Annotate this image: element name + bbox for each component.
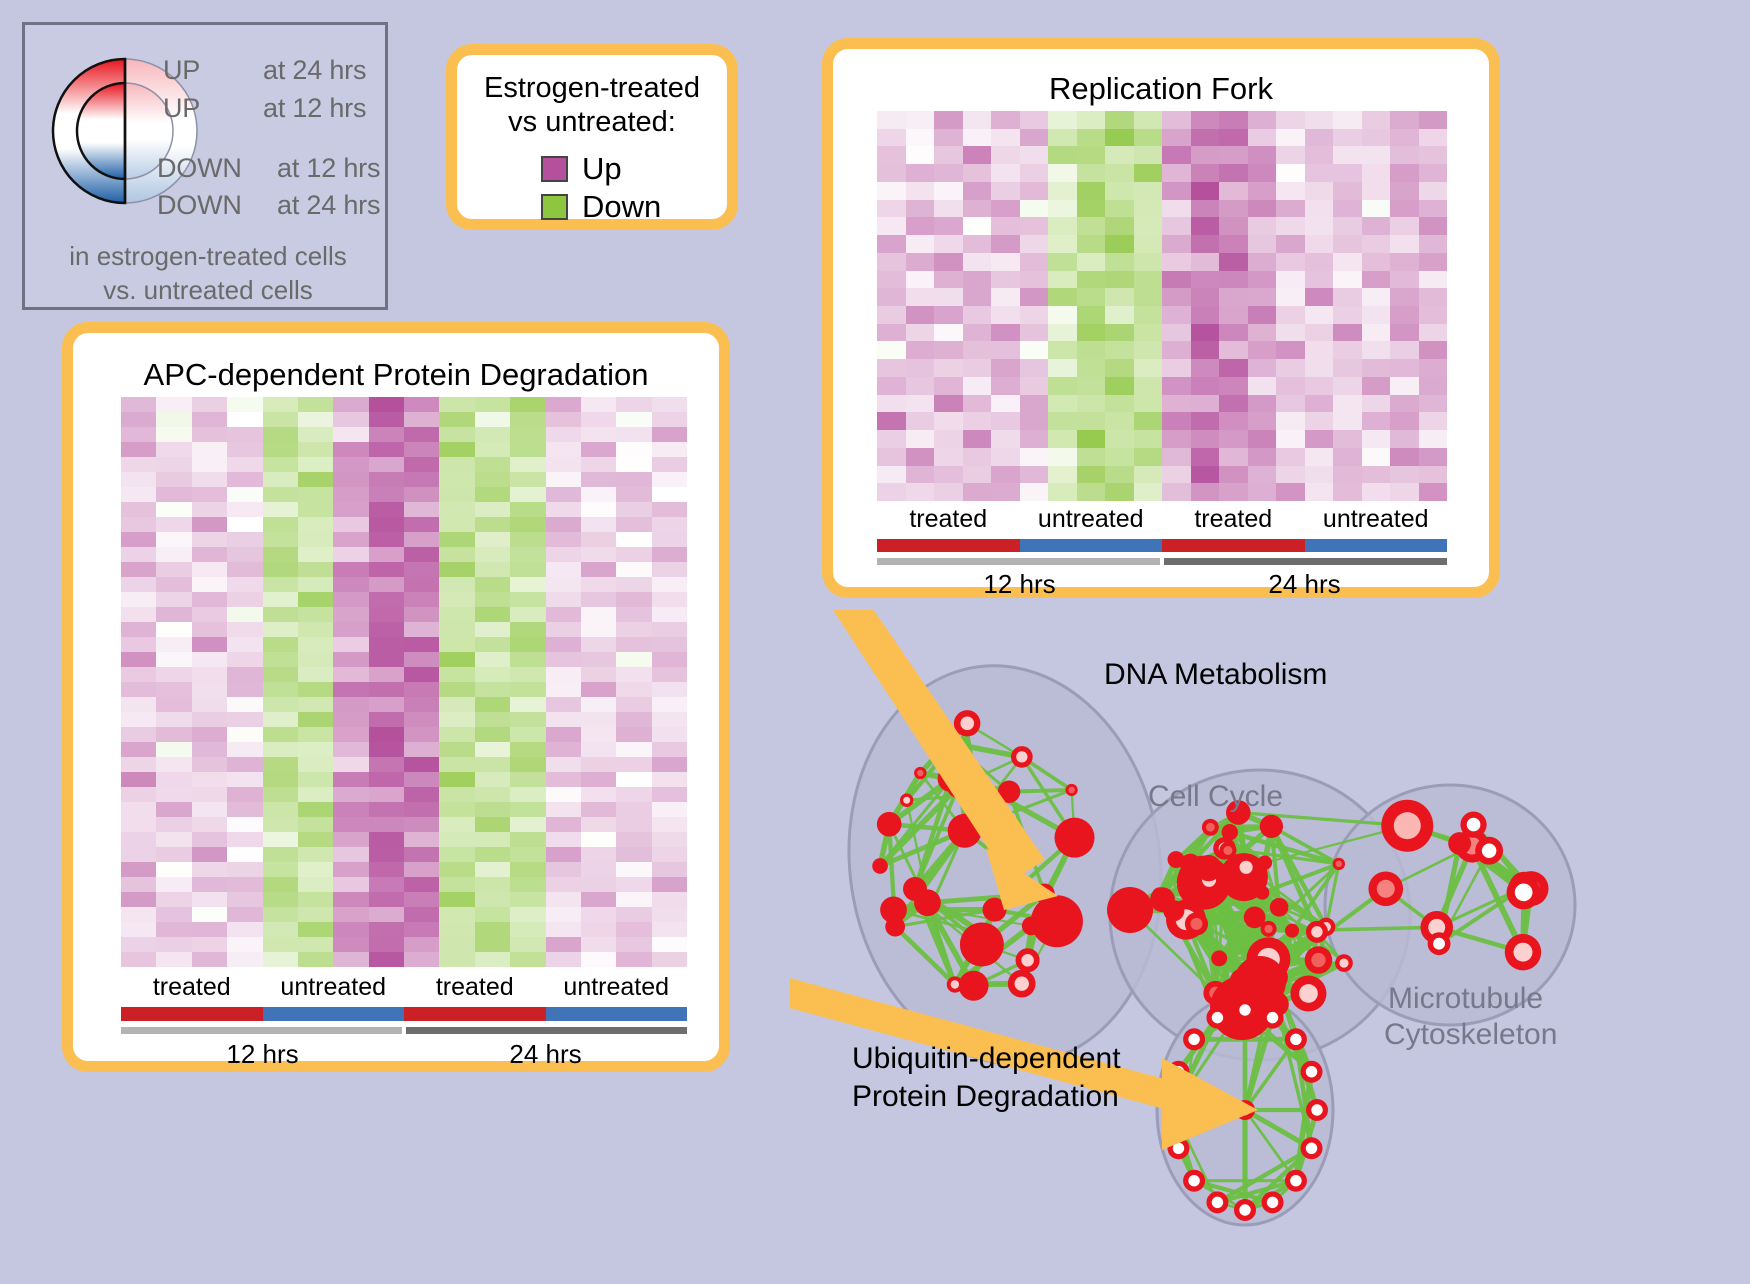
heatmap-cell [1390, 448, 1419, 466]
heatmap-cell [510, 412, 545, 427]
heatmap-cell [1105, 483, 1134, 501]
heatmap-cell [263, 457, 298, 472]
heatmap-cell [298, 397, 333, 412]
heatmap-cell [1248, 235, 1277, 253]
heatmap-cell [1419, 111, 1448, 129]
heatmap-cell [263, 607, 298, 622]
heatmap-cell [1248, 271, 1277, 289]
heatmap-cell [1077, 466, 1106, 484]
heatmap-cell [1077, 217, 1106, 235]
heatmap-cell [1419, 164, 1448, 182]
network-node-inner [1290, 1175, 1301, 1186]
heatmap-cell [227, 757, 262, 772]
heatmap-cell [581, 637, 616, 652]
heatmap-cell [616, 547, 651, 562]
heatmap-cell [156, 532, 191, 547]
heatmap-cell [1419, 412, 1448, 430]
network-node-inner [1311, 1104, 1322, 1115]
heatmap-cell [121, 487, 156, 502]
heatmap-cell [877, 146, 906, 164]
heatmap-cell [439, 637, 474, 652]
heatmap-cell [1162, 182, 1191, 200]
heatmap-cell [1191, 430, 1220, 448]
heatmap-cell [192, 397, 227, 412]
heatmap-cell [1048, 430, 1077, 448]
heatmap-cell [298, 427, 333, 442]
heatmap-cell [963, 182, 992, 200]
heatmap-cell [963, 466, 992, 484]
heatmap-cell [1362, 288, 1391, 306]
heatmap-cell [298, 937, 333, 952]
heatmap-cell [546, 562, 581, 577]
heatmap-cell [121, 922, 156, 937]
heatmap-cell [227, 682, 262, 697]
heatmap-cell [121, 502, 156, 517]
heatmap-cell [616, 397, 651, 412]
heatmap-cell [581, 622, 616, 637]
condition-label: treated [1162, 505, 1305, 537]
heatmap-cell [227, 622, 262, 637]
heatmap-cell [991, 448, 1020, 466]
heatmap-cell [369, 562, 404, 577]
heatmap-cell [1248, 111, 1277, 129]
network-node-inner [1226, 828, 1235, 837]
heatmap-cell [404, 397, 439, 412]
heatmap-cell [439, 697, 474, 712]
heatmap-cell [1419, 430, 1448, 448]
network-node-inner [903, 797, 910, 804]
heatmap-cell [1305, 395, 1334, 413]
heatmap-cell [404, 622, 439, 637]
heatmap-cell [616, 592, 651, 607]
heatmap-cell [439, 487, 474, 502]
heatmap-cell [1077, 430, 1106, 448]
heatmap-cell [1020, 200, 1049, 218]
heatmap-cell [510, 517, 545, 532]
heatmap-cell [1219, 324, 1248, 342]
heatmap-cell [333, 892, 368, 907]
heatmap-cell [1362, 466, 1391, 484]
cluster-label-ubiquitin-2: Protein Degradation [852, 1080, 1119, 1114]
heatmap-cell [121, 787, 156, 802]
heatmap-cell [1077, 235, 1106, 253]
heatmap-cell [1333, 430, 1362, 448]
heatmap-cell [369, 862, 404, 877]
heatmap-cell [1362, 430, 1391, 448]
heatmap-cell [1419, 359, 1448, 377]
heatmap-cell [475, 592, 510, 607]
heatmap-cell [439, 772, 474, 787]
heatmap-cell [616, 922, 651, 937]
timepoint-segment [406, 1027, 687, 1034]
heatmap-cell [1191, 466, 1220, 484]
heatmap-cell [439, 472, 474, 487]
heatmap-cell [877, 182, 906, 200]
heatmap-cell [192, 427, 227, 442]
heatmap-cell [1248, 359, 1277, 377]
heatmap-cell [1362, 341, 1391, 359]
heatmap-cell [439, 937, 474, 952]
key-legend-title: Estrogen-treated vs untreated: [457, 71, 727, 139]
heatmap-cell [404, 802, 439, 817]
heatmap-cell [1390, 235, 1419, 253]
heatmap-cell [439, 592, 474, 607]
heatmap-cell [1134, 483, 1163, 501]
heatmap-cell [1333, 200, 1362, 218]
network-node-inner [1261, 859, 1269, 867]
heatmap-cell [1333, 182, 1362, 200]
key-legend-item-up: Up [541, 151, 622, 187]
heatmap-cell [1333, 253, 1362, 271]
heatmap-cell [369, 802, 404, 817]
heatmap-cell [1390, 200, 1419, 218]
heatmap-cell [616, 637, 651, 652]
heatmap-cell [1162, 129, 1191, 147]
heatmap-cell [1048, 217, 1077, 235]
heatmap-cell [1276, 164, 1305, 182]
network-node-inner [890, 922, 900, 932]
heatmap-cell [1134, 430, 1163, 448]
heatmap-cell [156, 937, 191, 952]
heatmap-cell [934, 217, 963, 235]
heatmap-cell [1333, 129, 1362, 147]
heatmap-apc [121, 397, 687, 967]
heatmap-cell [906, 129, 935, 147]
heatmap-cell [877, 235, 906, 253]
network-node-inner [1482, 843, 1496, 857]
heatmap-cell [1191, 129, 1220, 147]
condition-segment [546, 1007, 688, 1021]
heatmap-cell [581, 547, 616, 562]
network-node-inner [1336, 861, 1342, 867]
heatmap-cell [369, 637, 404, 652]
heatmap-cell [934, 271, 963, 289]
heatmap-cell [156, 652, 191, 667]
heatmap-cell [546, 742, 581, 757]
heatmap-cell [475, 727, 510, 742]
cluster-label-ubiquitin-1: Ubiquitin-dependent [852, 1042, 1121, 1076]
heatmap-cell [475, 952, 510, 967]
condition-label: treated [121, 973, 263, 1005]
heatmap-cell [1305, 448, 1334, 466]
heatmap-cell [546, 667, 581, 682]
heatmap-cell [121, 862, 156, 877]
heatmap-cell [963, 217, 992, 235]
heatmap-cell [1219, 182, 1248, 200]
heatmap-cell [1419, 271, 1448, 289]
heatmap-cell [475, 697, 510, 712]
heatmap-cell [1390, 466, 1419, 484]
heatmap-cell [227, 802, 262, 817]
cluster-label-microtubule-1: Microtubule [1388, 982, 1543, 1016]
heatmap-cell [510, 532, 545, 547]
heatmap-cell [510, 397, 545, 412]
heatmap-cell [333, 817, 368, 832]
heatmap-cell [227, 667, 262, 682]
heatmap-cell [298, 577, 333, 592]
heatmap-cell [333, 547, 368, 562]
heatmap-cell [475, 892, 510, 907]
condition-color-bar-replication-fork [877, 539, 1447, 552]
heatmap-cell [369, 952, 404, 967]
heatmap-cell [121, 892, 156, 907]
heatmap-cell [263, 847, 298, 862]
heatmap-cell [121, 517, 156, 532]
heatmap-cell [934, 412, 963, 430]
heatmap-cell [475, 742, 510, 757]
heatmap-cell [1105, 129, 1134, 147]
heatmap-cell [510, 682, 545, 697]
heatmap-cell [991, 129, 1020, 147]
heatmap-cell [192, 412, 227, 427]
ring-legend-footer-line1: in estrogen-treated cells [25, 241, 391, 272]
heatmap-cell [906, 306, 935, 324]
heatmap-cell [121, 412, 156, 427]
heatmap-cell [1390, 377, 1419, 395]
heatmap-cell [991, 271, 1020, 289]
heatmap-cell [1162, 324, 1191, 342]
heatmap-cell [156, 637, 191, 652]
heatmap-cell [1105, 448, 1134, 466]
heatmap-cell [1333, 395, 1362, 413]
heatmap-cell [369, 622, 404, 637]
heatmap-cell [475, 802, 510, 817]
heatmap-cell [298, 622, 333, 637]
heatmap-cell [1362, 448, 1391, 466]
heatmap-cell [192, 637, 227, 652]
heatmap-cell [121, 772, 156, 787]
heatmap-cell [369, 892, 404, 907]
heatmap-cell [333, 637, 368, 652]
heatmap-cell [263, 877, 298, 892]
heatmap-cell [1020, 430, 1049, 448]
heatmap-cell [1048, 288, 1077, 306]
heatmap-cell [652, 547, 687, 562]
heatmap-cell [652, 847, 687, 862]
heatmap-cell [298, 772, 333, 787]
heatmap-cell [475, 877, 510, 892]
heatmap-cell [1134, 235, 1163, 253]
heatmap-cell [369, 922, 404, 937]
heatmap-cell [510, 742, 545, 757]
heatmap-cell [1390, 359, 1419, 377]
heatmap-cell [1219, 111, 1248, 129]
heatmap-cell [877, 288, 906, 306]
heatmap-cell [1134, 111, 1163, 129]
heatmap-cell [1276, 200, 1305, 218]
ring-legend-state-3: DOWN [157, 190, 242, 221]
heatmap-cell [369, 607, 404, 622]
heatmap-cell [1276, 430, 1305, 448]
condition-label: untreated [1305, 505, 1448, 537]
heatmap-cell [1191, 200, 1220, 218]
heatmap-cell [1134, 200, 1163, 218]
heatmap-cell [510, 427, 545, 442]
heatmap-cell [1248, 412, 1277, 430]
heatmap-cell [192, 907, 227, 922]
heatmap-cell [1219, 430, 1248, 448]
network-node-inner [976, 927, 986, 937]
heatmap-cell [404, 742, 439, 757]
heatmap-cell [404, 892, 439, 907]
heatmap-cell [652, 562, 687, 577]
heatmap-cell [439, 877, 474, 892]
heatmap-cell [581, 532, 616, 547]
heatmap-cell [1276, 146, 1305, 164]
heatmap-cell [192, 607, 227, 622]
heatmap-cell [439, 397, 474, 412]
heatmap-cell [227, 532, 262, 547]
heatmap-cell [877, 324, 906, 342]
heatmap-cell [192, 727, 227, 742]
heatmap-cell [227, 487, 262, 502]
network-node-inner [1188, 1034, 1199, 1045]
timepoint-label: 24 hrs [1162, 569, 1447, 599]
heatmap-cell [510, 787, 545, 802]
heatmap-cell [227, 697, 262, 712]
heatmap-cell [227, 712, 262, 727]
heatmap-cell [963, 448, 992, 466]
heatmap-cell [121, 607, 156, 622]
heatmap-cell [1248, 217, 1277, 235]
heatmap-cell [906, 324, 935, 342]
heatmap-cell [1048, 466, 1077, 484]
heatmap-cell [652, 907, 687, 922]
heatmap-cell [192, 532, 227, 547]
heatmap-cell [906, 412, 935, 430]
heatmap-cell [156, 802, 191, 817]
heatmap-cell [1134, 466, 1163, 484]
heatmap-cell [934, 306, 963, 324]
heatmap-cell [934, 430, 963, 448]
heatmap-cell [192, 592, 227, 607]
heatmap-cell [192, 487, 227, 502]
network-node-inner [1264, 925, 1272, 933]
heatmap-cell [963, 164, 992, 182]
heatmap-cell [263, 442, 298, 457]
panel-replication-fork: Replication Fork treated untreated treat… [822, 38, 1500, 598]
heatmap-cell [877, 412, 906, 430]
heatmap-cell [877, 377, 906, 395]
network-node-inner [1259, 889, 1266, 896]
heatmap-cell [546, 727, 581, 742]
heatmap-cell [546, 787, 581, 802]
heatmap-cell [227, 442, 262, 457]
heatmap-cell [263, 922, 298, 937]
ring-legend-state-0: UP [163, 55, 200, 86]
heatmap-cell [877, 359, 906, 377]
heatmap-cell [546, 862, 581, 877]
heatmap-cell [121, 592, 156, 607]
heatmap-cell [404, 787, 439, 802]
heatmap-cell [510, 592, 545, 607]
heatmap-cell [1077, 271, 1106, 289]
heatmap-cell [934, 164, 963, 182]
heatmap-cell [1276, 235, 1305, 253]
heatmap-cell [227, 547, 262, 562]
heatmap-cell [298, 487, 333, 502]
heatmap-cell [616, 877, 651, 892]
heatmap-cell [1020, 341, 1049, 359]
heatmap-cell [1020, 359, 1049, 377]
heatmap-cell [1077, 200, 1106, 218]
heatmap-cell [991, 111, 1020, 129]
heatmap-cell [1162, 430, 1191, 448]
heatmap-cell [1276, 324, 1305, 342]
heatmap-cell [156, 742, 191, 757]
heatmap-cell [227, 517, 262, 532]
network-node-inner [1206, 823, 1215, 832]
heatmap-cell [1390, 129, 1419, 147]
heatmap-cell [298, 562, 333, 577]
heatmap-cell [1333, 341, 1362, 359]
heatmap-cell [1219, 288, 1248, 306]
heatmap-cell [581, 817, 616, 832]
heatmap-cell [581, 607, 616, 622]
heatmap-cell [510, 832, 545, 847]
heatmap-cell [1162, 341, 1191, 359]
heatmap-cell [192, 847, 227, 862]
heatmap-cell [1276, 412, 1305, 430]
heatmap-cell [156, 832, 191, 847]
timepoint-color-bar-replication-fork [877, 558, 1447, 565]
heatmap-cell [1020, 253, 1049, 271]
heatmap-cell [475, 532, 510, 547]
heatmap-cell [1191, 483, 1220, 501]
heatmap-cell [475, 547, 510, 562]
heatmap-cell [581, 682, 616, 697]
heatmap-cell [1248, 448, 1277, 466]
heatmap-cell [121, 637, 156, 652]
heatmap-cell [1048, 377, 1077, 395]
heatmap-cell [227, 562, 262, 577]
heatmap-cell [439, 517, 474, 532]
heatmap-cell [1077, 377, 1106, 395]
ring-legend-time-0: at 24 hrs [263, 55, 366, 86]
heatmap-cell [333, 802, 368, 817]
heatmap-cell [192, 772, 227, 787]
heatmap-cell [546, 832, 581, 847]
heatmap-cell [581, 427, 616, 442]
heatmap-cell [1162, 146, 1191, 164]
heatmap-cell [1191, 288, 1220, 306]
cluster-label-cell-cycle: Cell Cycle [1148, 780, 1283, 814]
heatmap-cell [652, 442, 687, 457]
network-node-inner [1454, 838, 1466, 850]
heatmap-cell [1219, 377, 1248, 395]
network-node-inner [1185, 859, 1196, 870]
heatmap-cell [227, 937, 262, 952]
heatmap-cell [1077, 288, 1106, 306]
heatmap-cell [581, 397, 616, 412]
heatmap-cell [1333, 377, 1362, 395]
heatmap-cell [1333, 271, 1362, 289]
heatmap-cell [1020, 448, 1049, 466]
heatmap-cell [963, 359, 992, 377]
heatmap-cell [546, 802, 581, 817]
heatmap-cell [1077, 448, 1106, 466]
heatmap-cell [963, 271, 992, 289]
heatmap-cell [1162, 111, 1191, 129]
condition-label: untreated [546, 973, 688, 1005]
heatmap-cell [439, 862, 474, 877]
heatmap-cell [906, 217, 935, 235]
heatmap-cell [546, 622, 581, 637]
heatmap-cell [475, 712, 510, 727]
condition-label: untreated [1020, 505, 1163, 537]
heatmap-cell [404, 817, 439, 832]
heatmap-cell [404, 877, 439, 892]
